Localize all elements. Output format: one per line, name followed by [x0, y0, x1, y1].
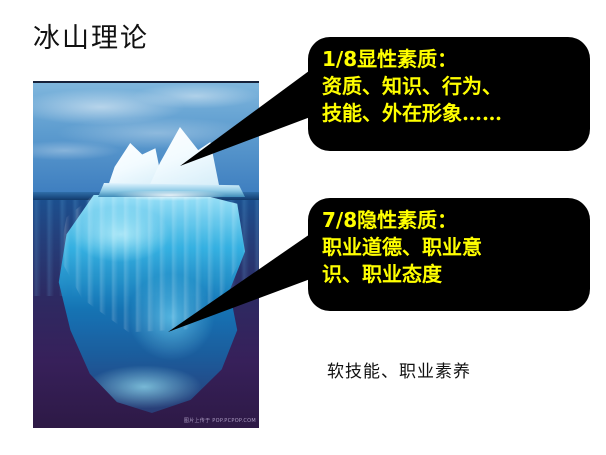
callout-implicit-lead: 7/8隐性素质：	[322, 207, 580, 234]
photo-watermark: 图片上传于 POP.PCPOP.COM	[184, 418, 256, 425]
slide-canvas: 冰山理论 图片上传于 POP.PCPOP.COM 1/8显性素质： 资质、知识、…	[0, 0, 606, 455]
iceberg-photo: 图片上传于 POP.PCPOP.COM	[33, 81, 259, 428]
callout-implicit-line-2: 识、职业态度	[322, 261, 580, 288]
bottom-caption: 软技能、职业素养	[327, 360, 471, 384]
callout-explicit-line-2: 技能、外在形象……	[322, 100, 580, 127]
callout-implicit-line-1: 职业道德、职业意	[322, 234, 580, 261]
page-title: 冰山理论	[33, 22, 149, 56]
callout-explicit-label: 显性素质：	[357, 47, 457, 71]
callout-explicit-qualities: 1/8显性素质： 资质、知识、行为、 技能、外在形象……	[308, 37, 590, 151]
ice-waterline-glow	[91, 191, 249, 205]
callout-explicit-line-1: 资质、知识、行为、	[322, 73, 580, 100]
callout-explicit-fraction: 1/8	[322, 47, 357, 71]
callout-explicit-lead: 1/8显性素质：	[322, 46, 580, 73]
callout-implicit-fraction: 7/8	[322, 208, 357, 232]
callout-implicit-qualities: 7/8隐性素质： 职业道德、职业意 识、职业态度	[308, 198, 590, 311]
callout-implicit-label: 隐性素质：	[357, 208, 457, 232]
